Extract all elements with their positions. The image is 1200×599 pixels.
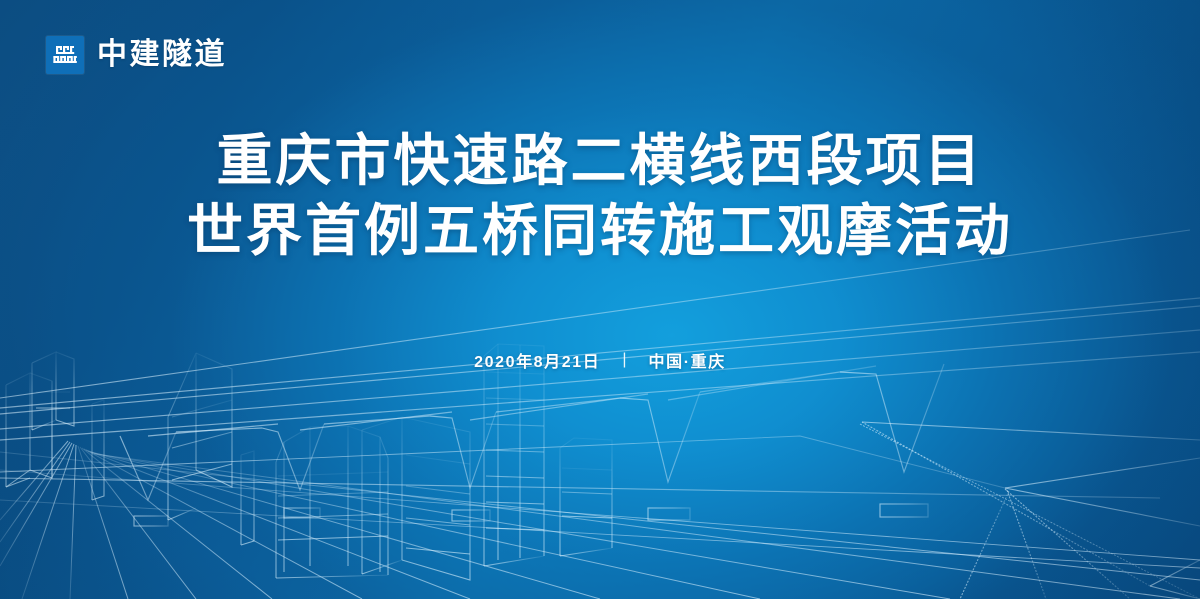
brand-name-label: 中建隧道: [97, 40, 227, 70]
event-title-line-1: 重庆市快速路二横线西段项目: [0, 126, 1200, 196]
event-meta-row: 2020年8月21日 | 中国·重庆: [0, 348, 1200, 372]
road-perspective-lines: [0, 441, 1200, 599]
brand-logo-bar: 中建隧道: [46, 36, 227, 74]
event-location: 中国·重庆: [649, 348, 726, 372]
event-banner: 中建隧道 重庆市快速路二横线西段项目 世界首例五桥同转施工观摩活动 2020年8…: [0, 0, 1200, 599]
bridge-truss-wireframe: [0, 298, 1200, 526]
event-title-line-2: 世界首例五桥同转施工观摩活动: [0, 196, 1200, 266]
cscec-logo-mark: [46, 36, 84, 74]
event-date: 2020年8月21日: [474, 348, 600, 372]
meta-separator: |: [622, 352, 626, 368]
event-title-block: 重庆市快速路二横线西段项目 世界首例五桥同转施工观摩活动: [0, 126, 1200, 266]
background-artwork: [0, 0, 1200, 599]
